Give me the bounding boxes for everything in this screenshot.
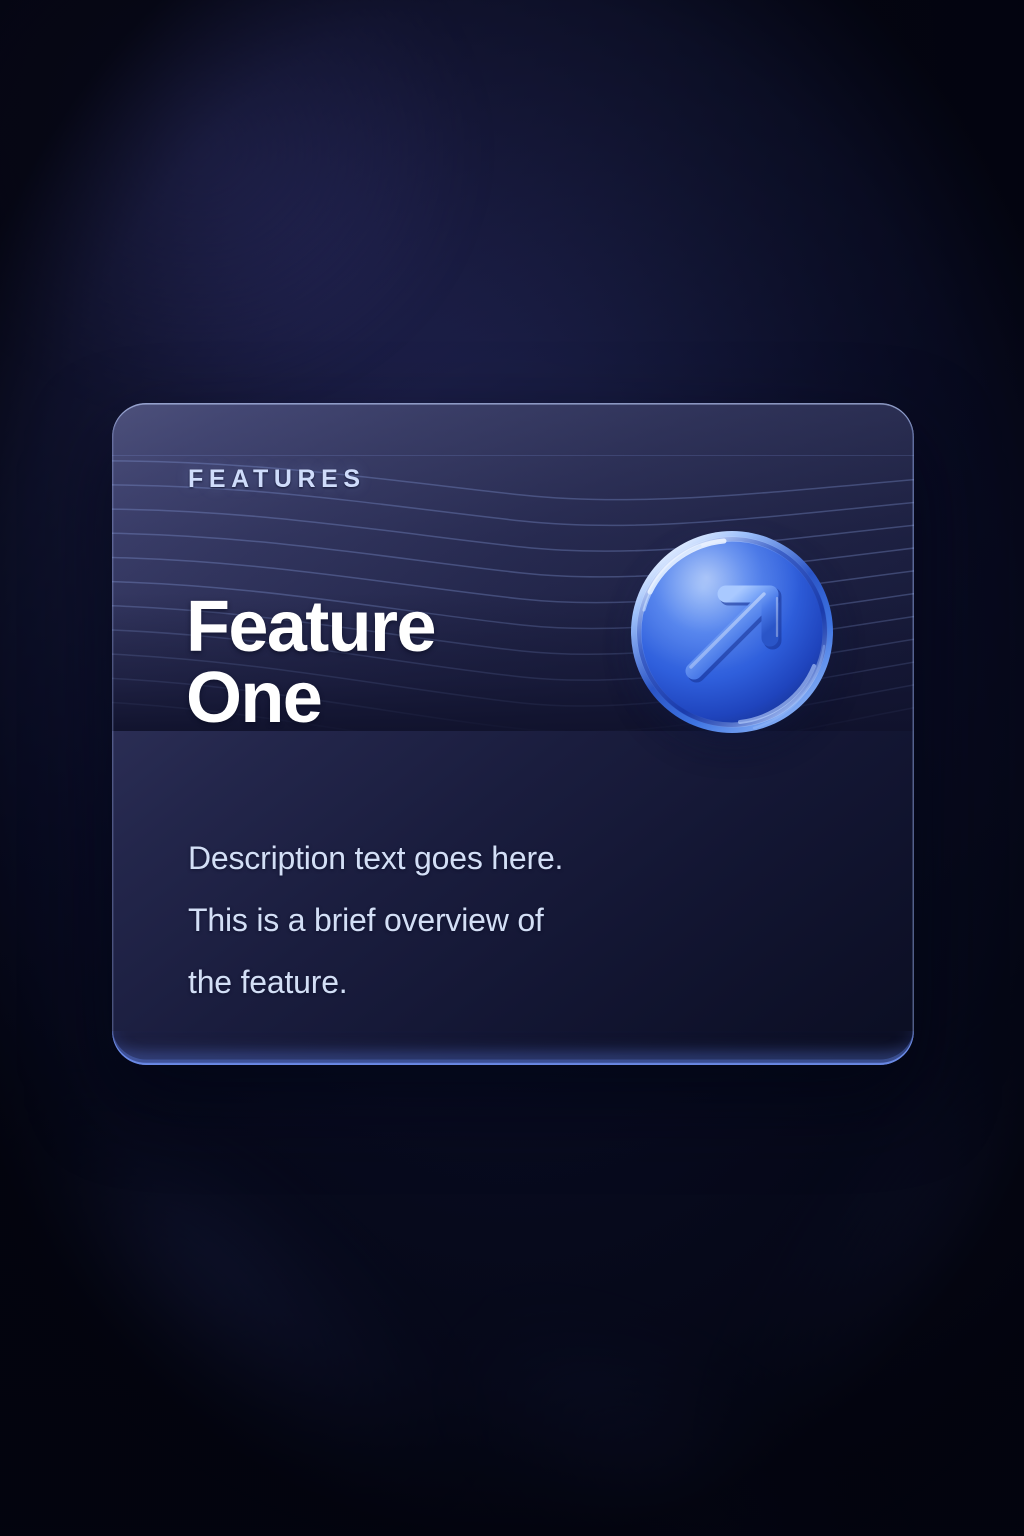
screen: FEATURES Feature One Description text go… xyxy=(0,0,1024,1536)
arrow-up-right-icon[interactable] xyxy=(628,528,836,736)
card-eyebrow-label: FEATURES xyxy=(188,465,366,494)
card-title: Feature One xyxy=(186,592,616,734)
card-bottom-edge-highlight xyxy=(112,1031,914,1065)
card-bottom-glow xyxy=(112,1043,914,1065)
card-description: Description text goes here. This is a br… xyxy=(188,827,708,1013)
